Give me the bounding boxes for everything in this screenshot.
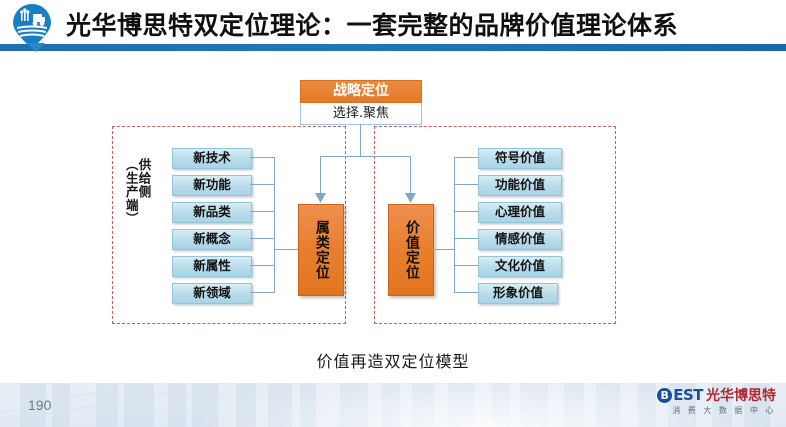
strategy-box-subtitle: 选择.聚焦 bbox=[300, 103, 422, 125]
header-divider-bar bbox=[0, 44, 786, 51]
connector-demand-3 bbox=[454, 211, 478, 212]
connector-demand-6 bbox=[454, 292, 478, 293]
header-divider-notch-icon bbox=[27, 43, 45, 52]
connector-strategy-to-left-drop bbox=[320, 156, 321, 194]
category-positioning-label: 属类定位 bbox=[313, 220, 329, 280]
supply-side-label: 供给侧 （生产端） bbox=[124, 158, 150, 278]
demand-item-box-4: 情感价值 bbox=[478, 229, 562, 250]
supply-side-label-line1: 供给侧 bbox=[137, 158, 150, 278]
supply-item-box-4: 新概念 bbox=[172, 229, 252, 250]
brand-logo: B EST 光华博思特 消 费 大 数 据 中 心 bbox=[630, 385, 776, 419]
brand-mark-icon: B bbox=[657, 388, 672, 403]
supply-item-box-2: 新功能 bbox=[172, 175, 252, 196]
connector-supply-6 bbox=[250, 292, 274, 293]
connector-supply-bus bbox=[274, 157, 275, 293]
value-positioning-label: 价值定位 bbox=[403, 220, 419, 280]
slide-root: 光华博思特双定位理论：一套完整的品牌价值理论体系 战略定位 选择.聚焦 供给侧 … bbox=[0, 0, 786, 427]
connector-supply-5 bbox=[250, 265, 274, 266]
strategy-box-caption: 战略定位 bbox=[300, 80, 422, 103]
connector-demand-bus bbox=[454, 157, 455, 293]
connector-demand-1 bbox=[454, 157, 478, 158]
page-title: 光华博思特双定位理论：一套完整的品牌价值理论体系 bbox=[66, 6, 678, 42]
demand-item-box-3: 心理价值 bbox=[478, 202, 562, 223]
supply-item-box-5: 新属性 bbox=[172, 256, 252, 277]
connector-supply-2 bbox=[250, 184, 274, 185]
supply-item-box-1: 新技术 bbox=[172, 148, 252, 169]
brand-name-cn: 光华博思特 bbox=[706, 385, 776, 405]
connector-demand-4 bbox=[454, 238, 478, 239]
connector-demand-bus-to-box bbox=[432, 249, 454, 250]
category-positioning-box: 属类定位 bbox=[298, 204, 344, 296]
page-number: 190 bbox=[28, 397, 51, 413]
demand-item-box-5: 文化价值 bbox=[478, 256, 562, 277]
connector-strategy-stem bbox=[360, 124, 361, 156]
supply-item-box-3: 新品类 bbox=[172, 202, 252, 223]
supply-item-box-6: 新领域 bbox=[172, 283, 252, 304]
demand-item-box-6: 形象价值 bbox=[478, 283, 558, 304]
connector-demand-5 bbox=[454, 265, 478, 266]
strategy-positioning-box: 战略定位 选择.聚焦 bbox=[300, 80, 422, 124]
brand-tagline: 消 费 大 数 据 中 心 bbox=[630, 405, 776, 416]
connector-supply-1 bbox=[250, 157, 274, 158]
connector-left-outer-stub bbox=[274, 249, 298, 250]
demand-item-box-1: 符号价值 bbox=[478, 148, 562, 169]
connector-strategy-split bbox=[320, 156, 410, 157]
brand-name-en: EST bbox=[673, 386, 703, 404]
value-positioning-box: 价值定位 bbox=[388, 204, 434, 296]
supply-side-label-line2: （生产端） bbox=[124, 158, 137, 278]
demand-item-box-2: 功能价值 bbox=[478, 175, 562, 196]
diagram-canvas: 战略定位 选择.聚焦 供给侧 （生产端） 新技术 新功能 新品类 新概念 新属性… bbox=[0, 58, 786, 383]
connector-supply-4 bbox=[250, 238, 274, 239]
connector-strategy-to-right-drop bbox=[410, 156, 411, 194]
connector-demand-2 bbox=[454, 184, 478, 185]
diagram-caption: 价值再造双定位模型 bbox=[0, 348, 786, 372]
connector-supply-3 bbox=[250, 211, 274, 212]
